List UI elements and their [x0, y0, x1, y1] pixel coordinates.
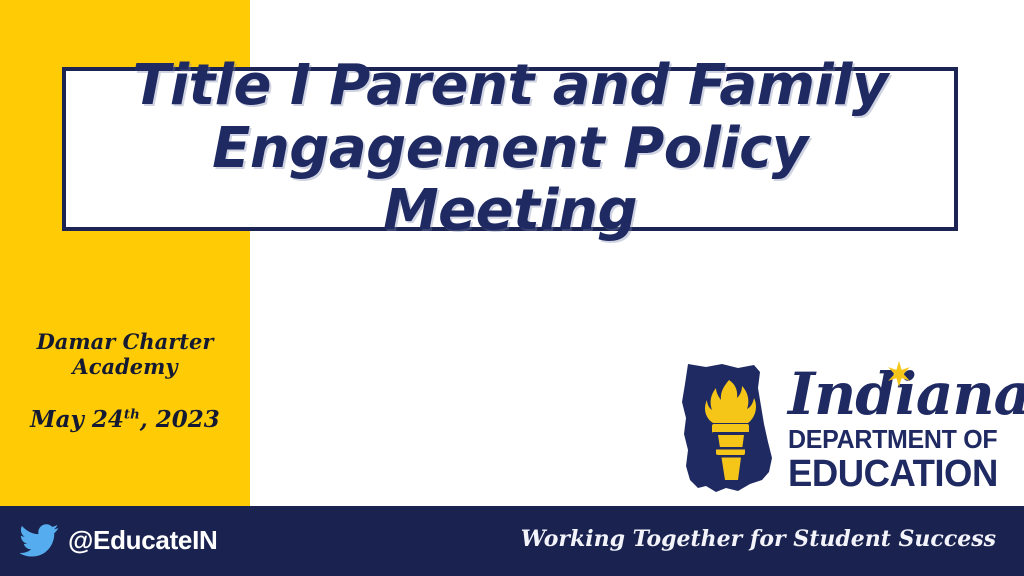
meeting-date-ordinal: th — [124, 406, 140, 422]
doe-wordmark-block: Indiana DEPARTMENT OF EDUCATION — [788, 362, 1024, 493]
star-icon — [886, 361, 912, 387]
page-title: Title I Parent and Family Engagement Pol… — [66, 55, 954, 243]
footer-tagline: Working Together for Student Success — [521, 526, 996, 552]
indiana-doe-logo: Indiana DEPARTMENT OF EDUCATION — [676, 362, 1006, 502]
title-line-1: Title I Parent and Family — [132, 53, 888, 118]
meeting-date: May 24th, 2023 — [0, 406, 250, 433]
twitter-handle-label: @EducateIN — [68, 525, 218, 556]
twitter-handle-group[interactable]: @EducateIN — [20, 523, 218, 557]
title-line-2: Engagement Policy Meeting — [212, 116, 808, 244]
school-name: Damar Charter Academy — [0, 330, 250, 380]
school-name-line-1: Damar Charter — [37, 329, 214, 354]
indiana-state-outline-icon — [676, 362, 784, 494]
doe-department-line: DEPARTMENT OF — [788, 426, 1021, 452]
presentation-slide: Title I Parent and Family Engagement Pol… — [0, 0, 1024, 576]
slide-footer-bar: @EducateIN Working Together for Student … — [0, 506, 1024, 576]
meeting-date-day: May 24 — [30, 406, 124, 433]
slide-subtitle-block: Damar Charter Academy May 24th, 2023 — [0, 330, 250, 433]
slide-title-box: Title I Parent and Family Engagement Pol… — [62, 67, 958, 231]
school-name-line-2: Academy — [72, 354, 177, 379]
meeting-date-year: , 2023 — [140, 406, 220, 433]
doe-education-line: EDUCATION — [788, 455, 1021, 493]
twitter-bird-icon[interactable] — [20, 523, 60, 557]
